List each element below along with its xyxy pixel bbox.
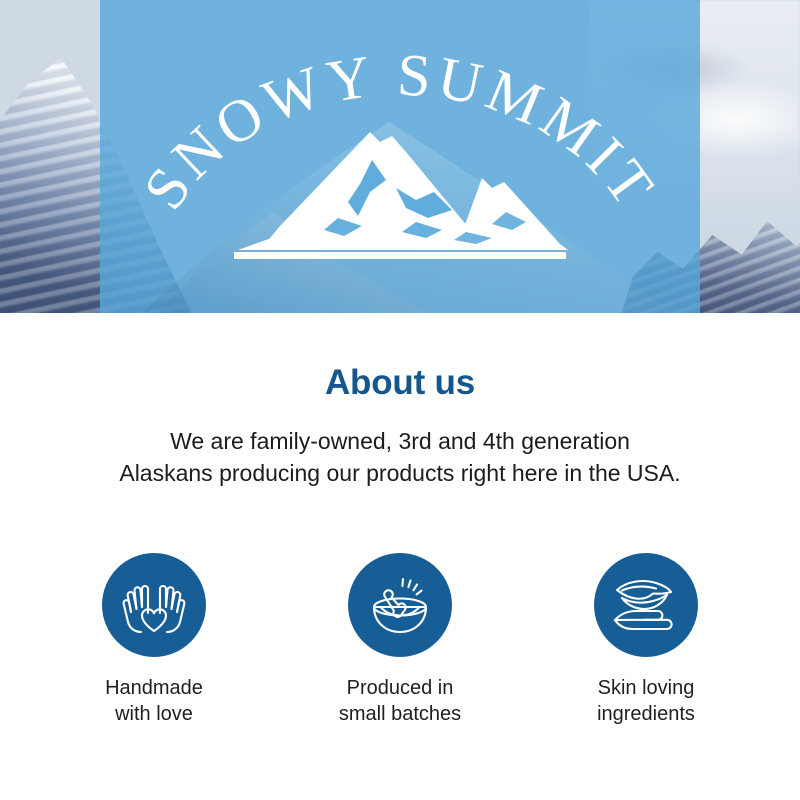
about-body-line-2: Alaskans producing our products right he…	[119, 460, 680, 486]
page-root: SNOWY SUMMIT About us	[0, 0, 800, 800]
brand-logo-panel: SNOWY SUMMIT	[100, 0, 700, 313]
feature-label: Produced in small batches	[339, 675, 461, 727]
feature-handmade-with-love[interactable]: Handmade with love	[79, 553, 229, 727]
feature-produced-in-small-batches[interactable]: Produced in small batches	[325, 553, 475, 727]
about-body-line-1: We are family-owned, 3rd and 4th generat…	[170, 428, 630, 454]
hero-banner: SNOWY SUMMIT	[0, 0, 800, 313]
feature-icon-circle	[348, 553, 452, 657]
mixing-bowl-spoon-icon	[364, 569, 436, 641]
feature-icon-circle	[102, 553, 206, 657]
feature-icon-circle	[594, 553, 698, 657]
feature-skin-loving-ingredients[interactable]: Skin loving ingredients	[571, 553, 721, 727]
features-row: Handmade with love	[0, 553, 800, 727]
hands-holding-heart-icon	[118, 569, 190, 641]
feature-label: Handmade with love	[105, 675, 203, 727]
about-title: About us	[0, 313, 800, 403]
feature-label: Skin loving ingredients	[597, 675, 695, 727]
about-section: About us We are family-owned, 3rd and 4t…	[0, 313, 800, 489]
mountain-peak-icon	[220, 126, 580, 271]
about-body: We are family-owned, 3rd and 4th generat…	[0, 403, 800, 489]
hand-holding-leaves-icon	[609, 568, 683, 642]
